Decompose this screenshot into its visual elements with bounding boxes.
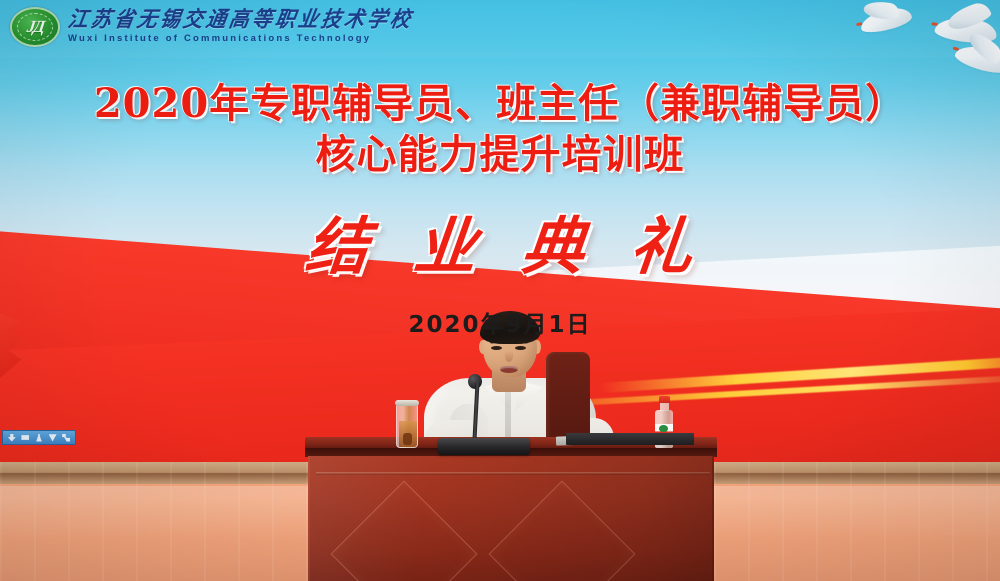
speaker-podium — [305, 437, 717, 581]
school-logo-icon: ЈД — [10, 7, 60, 47]
mouth — [500, 366, 518, 373]
microphone-base — [438, 438, 530, 455]
teacup-lid — [395, 400, 419, 406]
person-icon — [35, 434, 43, 442]
banner-date: 2020年9月1日 — [0, 305, 1000, 339]
banner-title-line-2: 核心能力提升培训班 — [0, 133, 1000, 178]
banner-calligraphy-headline: 结业典礼 — [0, 196, 1000, 286]
institution-name-cn: 江苏省无锡交通高等职业技术学校 — [66, 9, 414, 31]
podium-front-panel — [308, 456, 714, 581]
podium-shading — [310, 456, 712, 581]
tea-leaves — [403, 433, 412, 445]
glass-teacup-icon — [396, 404, 418, 448]
blocks-icon — [62, 434, 70, 442]
document-stack-dark — [566, 433, 694, 445]
eye-right — [515, 346, 526, 350]
institution-name-block: 江苏省无锡交通高等职业技术学校 Wuxi Institute of Commun… — [68, 10, 413, 44]
banner-title-line-1: 2020年专职辅导员、班主任（兼职辅导员） — [0, 82, 1000, 127]
ceremony-photo: ЈД 江苏省无锡交通高等职业技术学校 Wuxi Institute of Com… — [0, 0, 1000, 581]
banner-title: 2020年专职辅导员、班主任（兼职辅导员） 核心能力提升培训班 — [0, 82, 1000, 178]
emergency-exit-sign — [2, 430, 76, 445]
institution-header: ЈД 江苏省无锡交通高等职业技术学校 Wuxi Institute of Com… — [10, 7, 413, 47]
arrow-down-icon — [8, 434, 16, 442]
logo-monogram: ЈД — [26, 17, 45, 37]
door-icon — [21, 434, 29, 442]
eye-left — [491, 346, 502, 350]
nose — [505, 351, 513, 362]
funnel-icon — [49, 434, 57, 442]
institution-name-en: Wuxi Institute of Communications Technol… — [68, 34, 413, 44]
